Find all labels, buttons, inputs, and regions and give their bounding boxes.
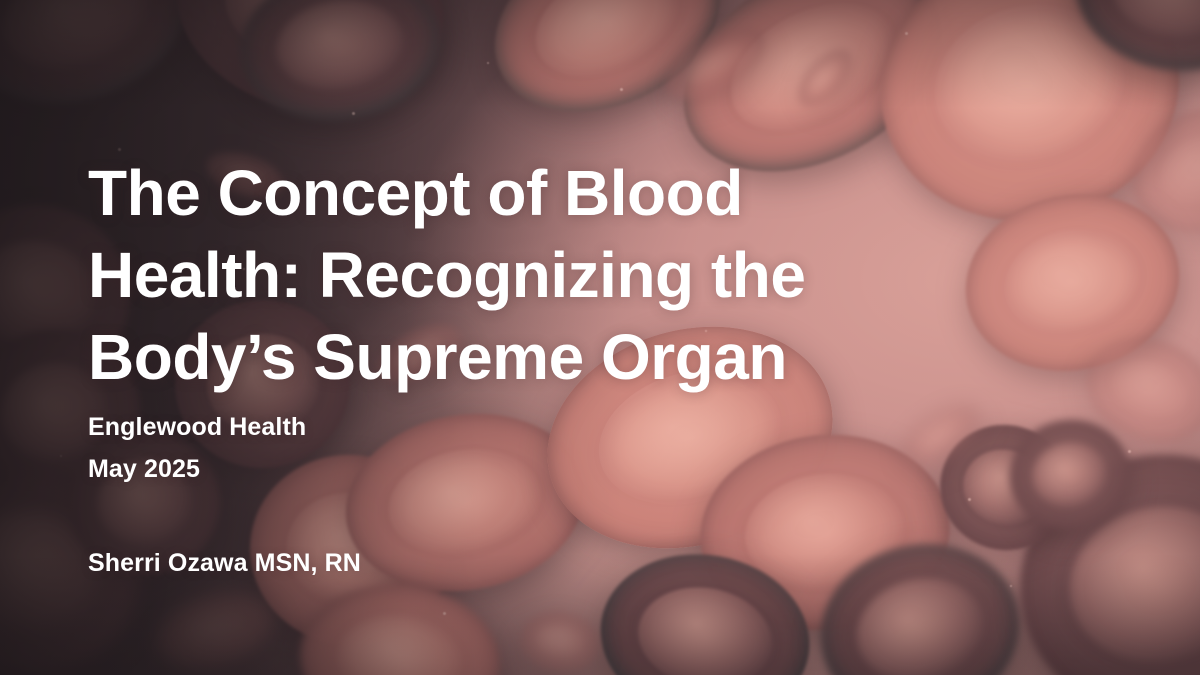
page-title: The Concept of BloodHealth: Recognizing … bbox=[88, 152, 848, 398]
slide-text-content: The Concept of BloodHealth: Recognizing … bbox=[88, 0, 868, 675]
organization-name: Englewood Health bbox=[88, 406, 306, 448]
presentation-date: May 2025 bbox=[88, 448, 306, 490]
presenter-name: Sherri Ozawa MSN, RN bbox=[88, 549, 361, 578]
slide-meta: Englewood Health May 2025 bbox=[88, 406, 306, 490]
title-line-3: Body’s Supreme Organ bbox=[88, 321, 787, 393]
title-slide: The Concept of BloodHealth: Recognizing … bbox=[0, 0, 1200, 675]
title-line-1: The Concept of Blood bbox=[88, 157, 743, 229]
title-line-2: Health: Recognizing the bbox=[88, 239, 805, 311]
